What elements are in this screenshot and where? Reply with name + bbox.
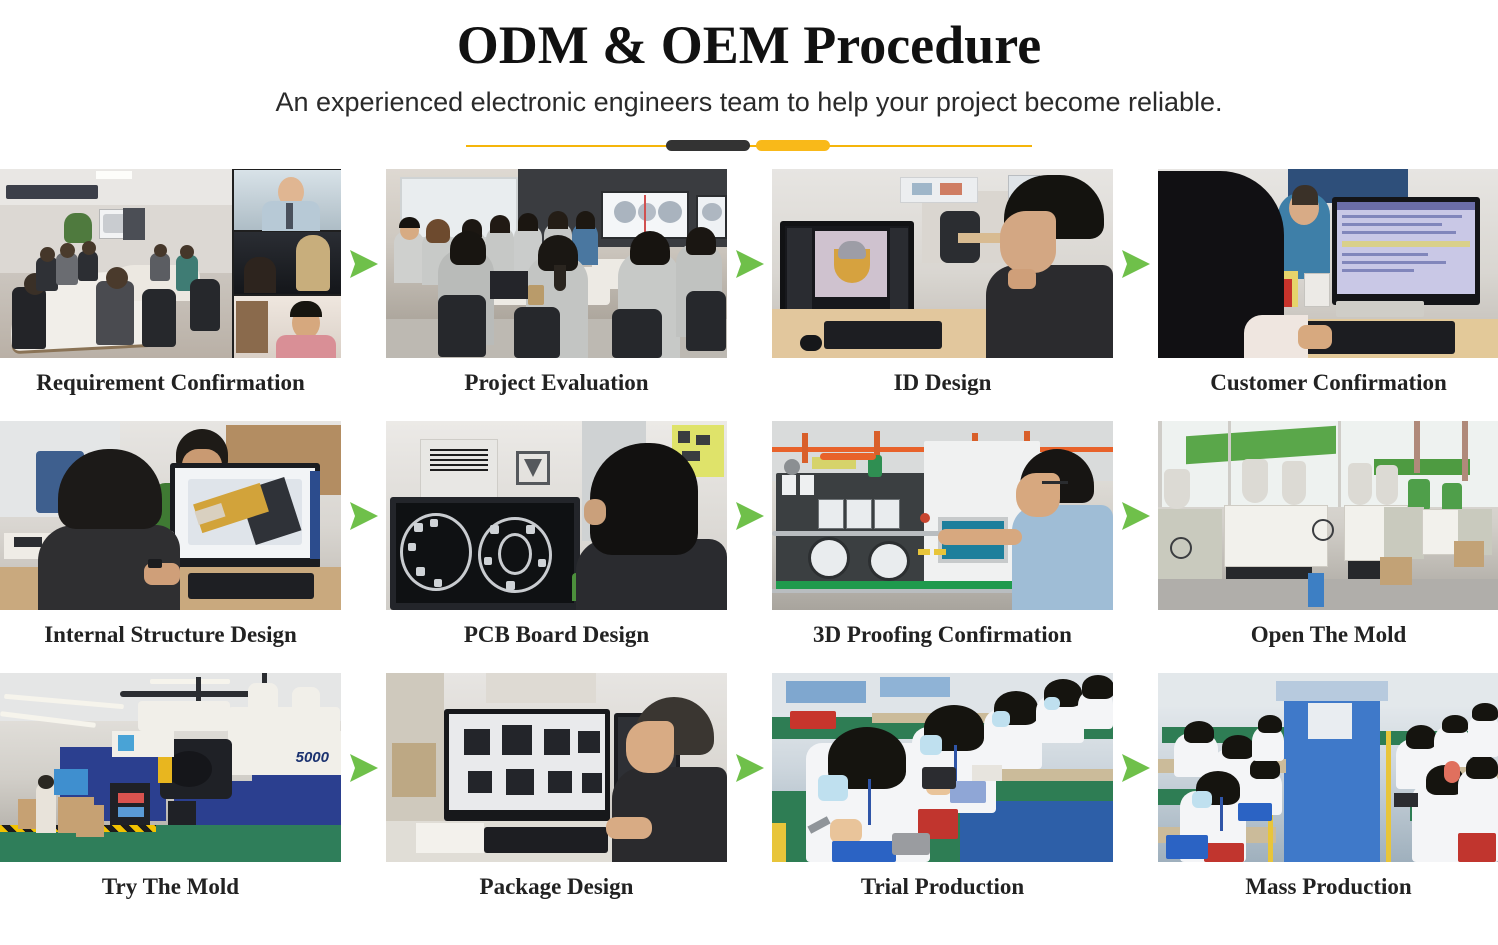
step-image-internal-structure-design <box>0 421 341 610</box>
step-label: Customer Confirmation <box>1158 358 1498 398</box>
step-label: Try The Mold <box>0 862 341 902</box>
step-label: ID Design <box>772 358 1113 398</box>
arrow-right-icon <box>727 169 772 359</box>
arrow-right-icon <box>727 673 772 863</box>
step-image-open-the-mold <box>1158 421 1498 610</box>
step-card[interactable]: Customer Confirmation <box>1158 169 1498 398</box>
step-label: Project Evaluation <box>386 358 727 398</box>
arrow-right-icon-glyph <box>1119 751 1153 785</box>
arrow-right-icon-glyph <box>1119 247 1153 281</box>
step-card[interactable]: Internal Structure Design <box>0 421 341 650</box>
procedure-row: 5000 Try The Mold <box>0 673 1498 925</box>
step-image-trial-production <box>772 673 1113 862</box>
step-card[interactable]: PCB Board Design <box>386 421 727 650</box>
odm-oem-procedure-page: ODM & OEM Procedure An experienced elect… <box>0 0 1498 945</box>
procedure-row: Internal Structure Design <box>0 421 1498 673</box>
step-card[interactable]: Package Design <box>386 673 727 902</box>
step-card[interactable]: Project Evaluation <box>386 169 727 398</box>
page-subtitle: An experienced electronic engineers team… <box>0 82 1498 122</box>
step-label: Package Design <box>386 862 727 902</box>
arrow-right-icon-glyph <box>347 499 381 533</box>
arrow-right-icon-glyph <box>733 247 767 281</box>
page-header: ODM & OEM Procedure An experienced elect… <box>0 0 1498 156</box>
step-card[interactable]: Open The Mold <box>1158 421 1498 650</box>
arrow-right-icon <box>341 673 386 863</box>
step-card[interactable]: Trial Production <box>772 673 1113 902</box>
step-label: Requirement Confirmation <box>0 358 341 398</box>
divider-dark-segment <box>666 140 750 151</box>
step-card[interactable]: 5000 Try The Mold <box>0 673 341 902</box>
arrow-right-icon <box>727 421 772 611</box>
step-image-package-design <box>386 673 727 862</box>
step-image-requirement-confirmation <box>0 169 341 358</box>
step-card[interactable]: Mass Production <box>1158 673 1498 902</box>
step-label: PCB Board Design <box>386 610 727 650</box>
arrow-right-icon-glyph <box>733 751 767 785</box>
procedure-row: Requirement Confirmation <box>0 169 1498 421</box>
arrow-right-icon-glyph <box>733 499 767 533</box>
step-image-project-evaluation <box>386 169 727 358</box>
machine-model-text: 5000 <box>296 749 329 766</box>
arrow-right-icon <box>1113 421 1158 611</box>
step-card[interactable]: 3D Proofing Confirmation <box>772 421 1113 650</box>
step-label: Mass Production <box>1158 862 1498 902</box>
step-image-mass-production <box>1158 673 1498 862</box>
step-image-id-design <box>772 169 1113 358</box>
arrow-right-icon <box>1113 673 1158 863</box>
step-label: Internal Structure Design <box>0 610 341 650</box>
step-label: Open The Mold <box>1158 610 1498 650</box>
step-image-pcb-board-design <box>386 421 727 610</box>
arrow-right-icon-glyph <box>347 751 381 785</box>
step-label: 3D Proofing Confirmation <box>772 610 1113 650</box>
step-image-try-the-mold: 5000 <box>0 673 341 862</box>
arrow-right-icon-glyph <box>1119 499 1153 533</box>
step-image-customer-confirmation <box>1158 169 1498 358</box>
step-card[interactable]: ID Design <box>772 169 1113 398</box>
step-image-3d-proofing-confirmation <box>772 421 1113 610</box>
arrow-right-icon <box>341 421 386 611</box>
procedure-grid: Requirement Confirmation <box>0 156 1498 925</box>
arrow-right-icon <box>1113 169 1158 359</box>
step-label: Trial Production <box>772 862 1113 902</box>
arrow-right-icon <box>341 169 386 359</box>
step-card[interactable]: Requirement Confirmation <box>0 169 341 398</box>
section-divider <box>466 136 1032 156</box>
arrow-right-icon-glyph <box>347 247 381 281</box>
divider-gold-segment <box>756 140 830 151</box>
page-title: ODM & OEM Procedure <box>0 14 1498 76</box>
